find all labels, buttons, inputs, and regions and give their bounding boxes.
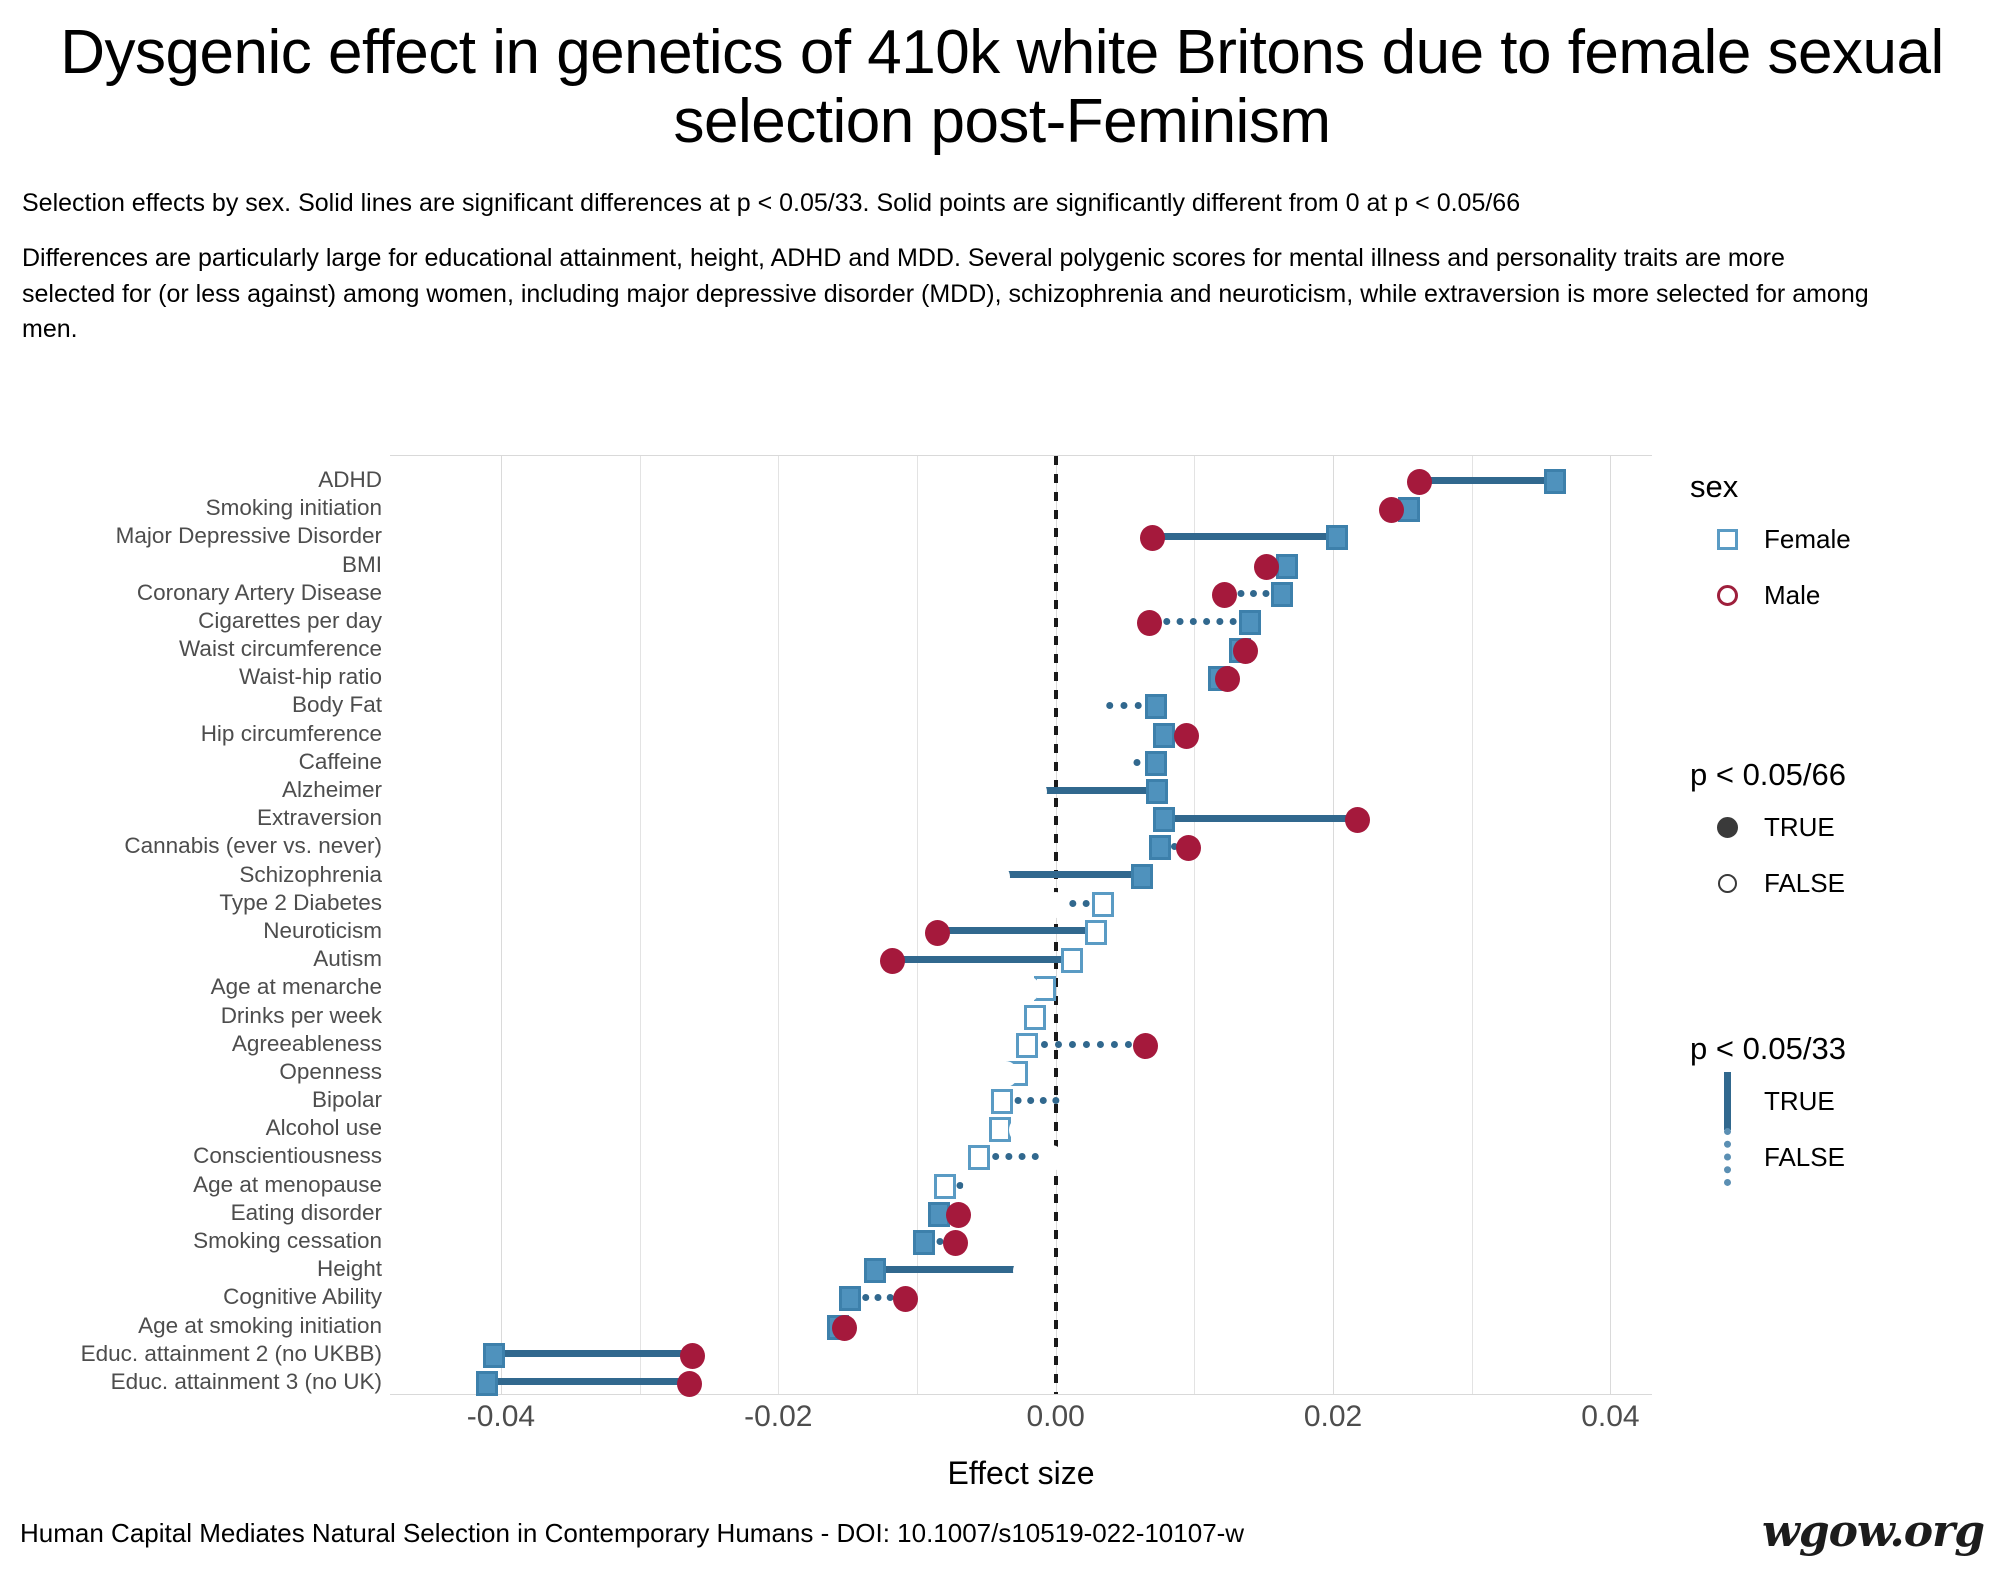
y-axis-label-neuroticism: Neuroticism <box>0 917 382 945</box>
male-point[interactable] <box>985 864 1010 890</box>
dumbbell-row: Alzheimer <box>390 776 1652 804</box>
y-axis-label-cannabis-ever-vs-never: Cannabis (ever vs. never) <box>0 832 382 860</box>
x-tick-label: 0.04 <box>1581 1400 1639 1434</box>
dumbbell-row: Openness <box>390 1058 1652 1086</box>
dotted-line-icon <box>1690 1128 1764 1186</box>
y-axis-label-smoking-initiation: Smoking initiation <box>0 494 382 522</box>
legend-item-line-false[interactable]: FALSE <box>1690 1129 2004 1185</box>
dumbbell-row: Age at menarche <box>390 973 1652 1001</box>
male-point[interactable] <box>925 920 950 946</box>
legend-title-sex: sex <box>1690 469 2004 505</box>
x-tick-label: 0.00 <box>1026 1400 1084 1434</box>
connector-line <box>1027 1041 1146 1048</box>
y-axis-label-bipolar: Bipolar <box>0 1086 382 1114</box>
y-axis-label-type-2-diabetes: Type 2 Diabetes <box>0 889 382 917</box>
female-point[interactable] <box>483 1343 505 1368</box>
dumbbell-row: Alcohol use <box>390 1114 1652 1142</box>
female-point[interactable] <box>934 1174 956 1199</box>
male-point[interactable] <box>680 1343 705 1369</box>
legend-label-line-false: FALSE <box>1764 1142 1845 1173</box>
male-point[interactable] <box>1013 1258 1038 1284</box>
legend-item-female[interactable]: Female <box>1690 511 2004 567</box>
male-point[interactable] <box>893 1286 918 1312</box>
female-point[interactable] <box>1276 554 1298 579</box>
dumbbell-row: Cigarettes per day <box>390 607 1652 635</box>
legend-title-point-sig: p < 0.05/66 <box>1690 757 2004 793</box>
female-point[interactable] <box>1149 835 1171 860</box>
female-point[interactable] <box>1544 469 1566 494</box>
legend-item-line-true[interactable]: TRUE <box>1690 1073 2004 1129</box>
male-point[interactable] <box>1215 666 1240 692</box>
dumbbell-row: Waist-hip ratio <box>390 663 1652 691</box>
female-point[interactable] <box>1024 1005 1046 1030</box>
female-point[interactable] <box>1146 779 1168 804</box>
y-axis-label-cognitive-ability: Cognitive Ability <box>0 1283 382 1311</box>
male-point[interactable] <box>1133 1033 1158 1059</box>
y-axis-label-coronary-artery-disease: Coronary Artery Disease <box>0 579 382 607</box>
male-point[interactable] <box>1407 469 1432 495</box>
male-point[interactable] <box>1140 525 1165 551</box>
female-point[interactable] <box>1061 948 1083 973</box>
legend: sex Female Male p < 0.05/66 TRUE FALSE p… <box>1690 455 2004 1185</box>
female-point[interactable] <box>1153 723 1175 748</box>
y-axis-label-caffeine: Caffeine <box>0 748 382 776</box>
y-axis-label-alcohol-use: Alcohol use <box>0 1114 382 1142</box>
dumbbell-row: Caffeine <box>390 748 1652 776</box>
x-axis-label: Effect size <box>390 1455 1652 1492</box>
connector-line <box>892 956 1072 963</box>
y-axis-label-schizophrenia: Schizophrenia <box>0 861 382 889</box>
y-axis-label-age-at-smoking-initiation: Age at smoking initiation <box>0 1312 382 1340</box>
male-point[interactable] <box>1233 638 1258 664</box>
connector-line <box>938 927 1096 934</box>
female-point[interactable] <box>1085 920 1107 945</box>
y-axis-label-hip-circumference: Hip circumference <box>0 720 382 748</box>
legend-label-line-true: TRUE <box>1764 1086 1835 1117</box>
y-axis-label-eating-disorder: Eating disorder <box>0 1199 382 1227</box>
footer: Human Capital Mediates Natural Selection… <box>0 1498 2004 1590</box>
x-axis: -0.04-0.020.000.020.04 Effect size <box>390 1400 1652 1510</box>
dumbbell-row: Cognitive Ability <box>390 1283 1652 1311</box>
male-point[interactable] <box>1254 554 1279 580</box>
male-point[interactable] <box>1174 723 1199 749</box>
male-point[interactable] <box>1079 694 1104 720</box>
y-axis-label-smoking-cessation: Smoking cessation <box>0 1227 382 1255</box>
dumbbell-row: Age at smoking initiation <box>390 1312 1652 1340</box>
female-point[interactable] <box>1145 694 1167 719</box>
male-circle-icon <box>1690 585 1764 606</box>
legend-item-male[interactable]: Male <box>1690 567 2004 623</box>
connector-line <box>1419 477 1555 484</box>
filled-dot-icon <box>1690 817 1764 838</box>
connector-line <box>494 1350 692 1357</box>
legend-label-point-false: FALSE <box>1764 868 1845 899</box>
y-axis-label-cigarettes-per-day: Cigarettes per day <box>0 607 382 635</box>
connector-line <box>875 1266 1025 1273</box>
female-point[interactable] <box>989 1117 1011 1142</box>
male-point[interactable] <box>1043 892 1068 918</box>
legend-item-point-true[interactable]: TRUE <box>1690 799 2004 855</box>
male-point[interactable] <box>1022 779 1047 805</box>
y-axis-label-educ-attainment-2-no-ukbb: Educ. attainment 2 (no UKBB) <box>0 1340 382 1368</box>
y-axis-label-openness: Openness <box>0 1058 382 1086</box>
citation-text: Human Capital Mediates Natural Selection… <box>20 1518 1244 1549</box>
y-axis-label-major-depressive-disorder: Major Depressive Disorder <box>0 522 382 550</box>
dumbbell-row: Coronary Artery Disease <box>390 579 1652 607</box>
male-point[interactable] <box>1176 835 1201 861</box>
male-point[interactable] <box>943 1230 968 1256</box>
subtitle-findings: Differences are particularly large for e… <box>0 219 1900 348</box>
dumbbell-row: Age at menopause <box>390 1171 1652 1199</box>
female-point[interactable] <box>1131 864 1153 889</box>
dumbbell-row: Extraversion <box>390 804 1652 832</box>
connector-line <box>1035 787 1157 794</box>
legend-item-point-false[interactable]: FALSE <box>1690 855 2004 911</box>
male-point[interactable] <box>1212 582 1237 608</box>
connector-line <box>1153 533 1337 540</box>
dumbbell-row: Neuroticism <box>390 917 1652 945</box>
subtitle-methods: Selection effects by sex. Solid lines ar… <box>0 157 2004 220</box>
connector-line <box>1164 815 1358 822</box>
connector-line <box>1150 618 1250 625</box>
female-point[interactable] <box>1239 610 1261 635</box>
dumbbell-row: Eating disorder <box>390 1199 1652 1227</box>
dumbbell-row: Type 2 Diabetes <box>390 889 1652 917</box>
y-axis-label-age-at-menopause: Age at menopause <box>0 1171 382 1199</box>
male-point[interactable] <box>1009 1117 1034 1143</box>
y-axis-label-waist-circumference: Waist circumference <box>0 635 382 663</box>
y-axis-label-bmi: BMI <box>0 551 382 579</box>
y-axis-label-alzheimer: Alzheimer <box>0 776 382 804</box>
dumbbell-row: Educ. attainment 3 (no UK) <box>390 1368 1652 1396</box>
dumbbell-row: Body Fat <box>390 691 1652 719</box>
female-point[interactable] <box>968 1145 990 1170</box>
y-axis-label-agreeableness: Agreeableness <box>0 1030 382 1058</box>
dumbbell-row: Autism <box>390 945 1652 973</box>
header: Dysgenic effect in genetics of 410k whit… <box>0 0 2004 348</box>
open-dot-icon <box>1690 874 1764 893</box>
legend-label-point-true: TRUE <box>1764 812 1835 843</box>
female-point[interactable] <box>1092 892 1114 917</box>
chart-area: ADHDSmoking initiationMajor Depressive D… <box>0 455 2004 1455</box>
legend-label-female: Female <box>1764 524 1851 555</box>
male-point[interactable] <box>1137 610 1162 636</box>
dumbbell-row: Agreeableness <box>390 1030 1652 1058</box>
female-point[interactable] <box>1145 751 1167 776</box>
dumbbell-row: Smoking cessation <box>390 1227 1652 1255</box>
dumbbell-row: BMI <box>390 551 1652 579</box>
male-point[interactable] <box>999 1005 1024 1031</box>
female-point[interactable] <box>1153 807 1175 832</box>
y-axis-label-extraversion: Extraversion <box>0 804 382 832</box>
dumbbell-row: Conscientiousness <box>390 1142 1652 1170</box>
y-axis-label-body-fat: Body Fat <box>0 691 382 719</box>
male-point[interactable] <box>1345 807 1370 833</box>
connector-line <box>997 871 1141 878</box>
dumbbell-row: Height <box>390 1255 1652 1283</box>
male-point[interactable] <box>1039 1145 1064 1171</box>
y-axis-label-adhd: ADHD <box>0 466 382 494</box>
dumbbell-row: Schizophrenia <box>390 861 1652 889</box>
female-point[interactable] <box>1271 582 1293 607</box>
y-axis-label-autism: Autism <box>0 945 382 973</box>
x-tick-label: 0.02 <box>1304 1400 1362 1434</box>
female-point[interactable] <box>1326 525 1348 550</box>
dumbbell-row: Bipolar <box>390 1086 1652 1114</box>
male-point[interactable] <box>677 1371 702 1397</box>
connector-line <box>487 1378 689 1385</box>
male-point[interactable] <box>880 948 905 974</box>
x-tick-label: -0.02 <box>744 1400 812 1434</box>
male-point[interactable] <box>946 1202 971 1228</box>
female-point[interactable] <box>991 1089 1013 1114</box>
y-axis-label-height: Height <box>0 1255 382 1283</box>
female-square-icon <box>1690 529 1764 550</box>
y-axis-label-educ-attainment-3-no-uk: Educ. attainment 3 (no UK) <box>0 1368 382 1396</box>
female-point[interactable] <box>839 1286 861 1311</box>
page-title: Dysgenic effect in genetics of 410k whit… <box>0 10 2004 157</box>
dumbbell-row: ADHD <box>390 466 1652 494</box>
dumbbell-row: Educ. attainment 2 (no UKBB) <box>390 1340 1652 1368</box>
x-tick-label: -0.04 <box>467 1400 535 1434</box>
legend-title-line-sig: p < 0.05/33 <box>1690 1031 2004 1067</box>
male-point[interactable] <box>1379 497 1404 523</box>
male-point[interactable] <box>993 1061 1018 1087</box>
female-point[interactable] <box>864 1258 886 1283</box>
legend-label-male: Male <box>1764 580 1820 611</box>
female-point[interactable] <box>476 1371 498 1396</box>
dumbbell-row: Hip circumference <box>390 720 1652 748</box>
female-point[interactable] <box>1016 1033 1038 1058</box>
wgow-logo: wgow.org <box>1762 1506 1984 1557</box>
male-point[interactable] <box>963 1174 988 1200</box>
dumbbell-row: Waist circumference <box>390 635 1652 663</box>
dumbbell-row: Smoking initiation <box>390 494 1652 522</box>
dumbbell-row: Major Depressive Disorder <box>390 522 1652 550</box>
male-point[interactable] <box>832 1315 857 1341</box>
y-axis-label-conscientiousness: Conscientiousness <box>0 1142 382 1170</box>
solid-line-icon <box>1690 1072 1764 1130</box>
plot-panel: ADHDSmoking initiationMajor Depressive D… <box>390 455 1652 1395</box>
male-point[interactable] <box>1060 1089 1085 1115</box>
dumbbell-row: Drinks per week <box>390 1002 1652 1030</box>
male-point[interactable] <box>1106 751 1131 777</box>
female-point[interactable] <box>913 1230 935 1255</box>
y-axis-label-waist-hip-ratio: Waist-hip ratio <box>0 663 382 691</box>
y-axis-label-drinks-per-week: Drinks per week <box>0 1002 382 1030</box>
dumbbell-row: Cannabis (ever vs. never) <box>390 832 1652 860</box>
y-axis-label-age-at-menarche: Age at menarche <box>0 973 382 1001</box>
